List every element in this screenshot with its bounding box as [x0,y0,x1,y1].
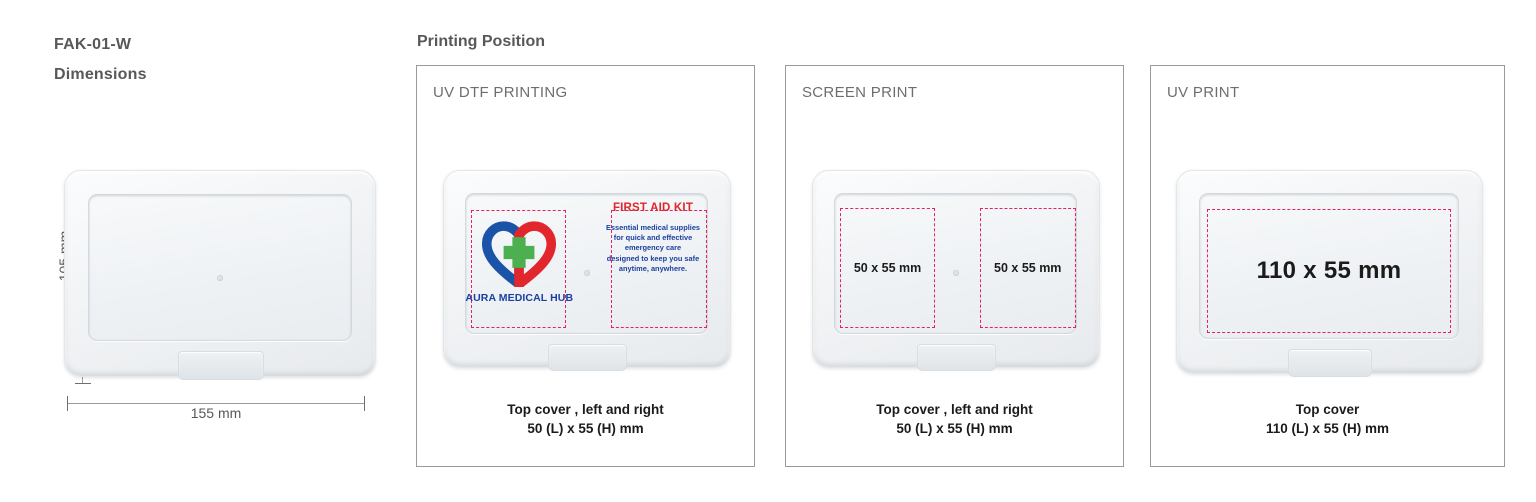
artwork-headline: FIRST AID KIT [613,202,693,214]
spec-sheet: FAK-01-W Dimensions 105 mm 155 mm Printi… [0,0,1536,502]
panel-caption-line2: 50 (L) x 55 (H) mm [786,419,1123,438]
product-latch [178,351,264,380]
panel-caption-line1: Top cover , left and right [786,400,1123,419]
panel-artwork: AURA MEDICAL HUB FIRST AID KIT Essential… [417,162,754,377]
product-heading: FAK-01-W Dimensions [54,30,394,90]
panel-caption-line1: Top cover , left and right [417,400,754,419]
artwork-body-line: Essential medical supplies [606,223,700,233]
height-tick-bottom [75,383,91,384]
product-image-uv-print: 110 x 55 mm [1176,170,1483,374]
printing-panel-uv-dtf: UV DTF PRINTING AURA MEDICAL [416,65,755,467]
panel-caption-line1: Top cover [1151,400,1504,419]
product-dimensions-label: Dimensions [54,60,394,90]
text-artwork: FIRST AID KIT Essential medical supplies… [598,193,708,330]
product-latch [917,344,996,371]
product-latch [1288,349,1372,377]
panel-title: SCREEN PRINT [802,84,917,101]
panel-caption: Top cover , left and right 50 (L) x 55 (… [417,400,754,438]
print-area-label: 110 x 55 mm [1208,257,1450,285]
print-area-label: 50 x 55 mm [841,261,935,275]
heart-cross-icon [482,221,556,287]
artwork-body-line: designed to keep you safe [606,254,700,264]
artwork-body-line: emergency care [606,243,700,253]
product-image-main [64,170,376,377]
panel-title: UV PRINT [1167,84,1239,101]
print-area-left: 50 x 55 mm [840,208,936,328]
print-area-right: 50 x 55 mm [980,208,1076,328]
printing-panel-screen-print: SCREEN PRINT 50 x 55 mm 50 x 55 mm Top c… [785,65,1124,467]
artwork-body-line: for quick and effective [606,233,700,243]
printing-panel-uv-print: UV PRINT 110 x 55 mm Top cover 110 (L) x… [1150,65,1505,467]
product-center-dot [217,275,223,281]
product-center-dot [584,270,590,276]
panel-caption-line2: 110 (L) x 55 (H) mm [1151,419,1504,438]
panel-artwork: 110 x 55 mm [1151,162,1504,377]
panel-title: UV DTF PRINTING [433,84,568,101]
width-tick-left [67,396,68,411]
product-lid-inset [88,194,352,342]
product-code: FAK-01-W [54,30,394,60]
width-dimension-line [68,403,365,404]
artwork-body: Essential medical supplies for quick and… [606,223,700,275]
panel-caption: Top cover 110 (L) x 55 (H) mm [1151,400,1504,438]
product-image-uv-dtf: AURA MEDICAL HUB FIRST AID KIT Essential… [443,170,731,368]
panel-caption-line2: 50 (L) x 55 (H) mm [417,419,754,438]
print-area-label: 50 x 55 mm [981,261,1075,275]
printing-position-title: Printing Position [417,33,545,51]
logo-brand-text: AURA MEDICAL HUB [465,292,573,304]
panel-artwork: 50 x 55 mm 50 x 55 mm [786,162,1123,377]
width-dimension-label: 155 mm [136,405,296,421]
print-area-full: 110 x 55 mm [1207,209,1451,332]
artwork-body-line: anytime, anywhere. [606,264,700,274]
logo-artwork: AURA MEDICAL HUB [466,193,572,330]
panel-caption: Top cover , left and right 50 (L) x 55 (… [786,400,1123,438]
product-image-screen-print: 50 x 55 mm 50 x 55 mm [812,170,1100,368]
width-tick-right [364,396,365,411]
product-center-dot [953,270,959,276]
product-latch [548,344,627,371]
